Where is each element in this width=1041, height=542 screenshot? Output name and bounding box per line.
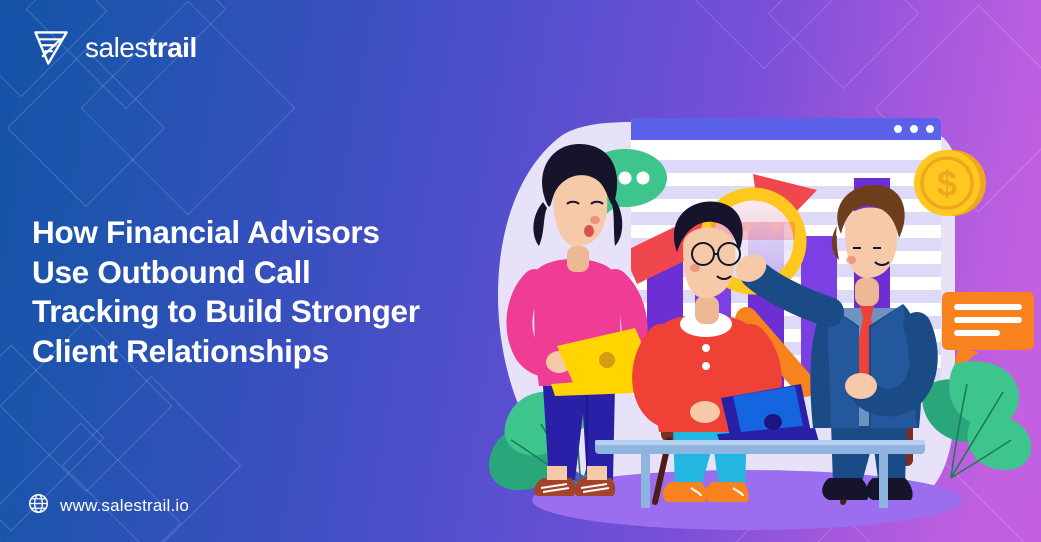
dollar-coin: $ — [914, 150, 986, 216]
chat-dot — [619, 172, 632, 185]
svg-text:$: $ — [937, 163, 957, 204]
page-title: How Financial Advisors Use Outbound Call… — [32, 213, 502, 372]
decorative-diamond — [768, 0, 919, 89]
chat-dot — [637, 172, 650, 185]
headline-line-3: Tracking to Build Stronger — [32, 293, 420, 329]
footer-url-text: www.salestrail.io — [60, 496, 189, 516]
headline-line-1: How Financial Advisors — [32, 214, 380, 250]
salestrail-triangle-logo-icon — [30, 27, 72, 69]
globe-icon — [28, 493, 49, 519]
brand-name-bold: trail — [148, 32, 197, 63]
brand-name-light: sales — [85, 32, 148, 63]
browser-dot — [894, 125, 902, 133]
browser-dot — [926, 125, 934, 133]
headline-line-2: Use Outbound Call — [32, 254, 310, 290]
orange-chat-bubble — [942, 292, 1034, 372]
footer-website[interactable]: www.salestrail.io — [28, 493, 189, 519]
brand-logo[interactable]: salestrail — [30, 27, 197, 69]
brand-name: salestrail — [85, 34, 197, 62]
hero-illustration: $ — [455, 96, 1041, 542]
browser-dot — [910, 125, 918, 133]
headline-line-4: Client Relationships — [32, 333, 329, 369]
marketing-banner: salestrail How Financial Advisors Use Ou… — [0, 0, 1041, 542]
